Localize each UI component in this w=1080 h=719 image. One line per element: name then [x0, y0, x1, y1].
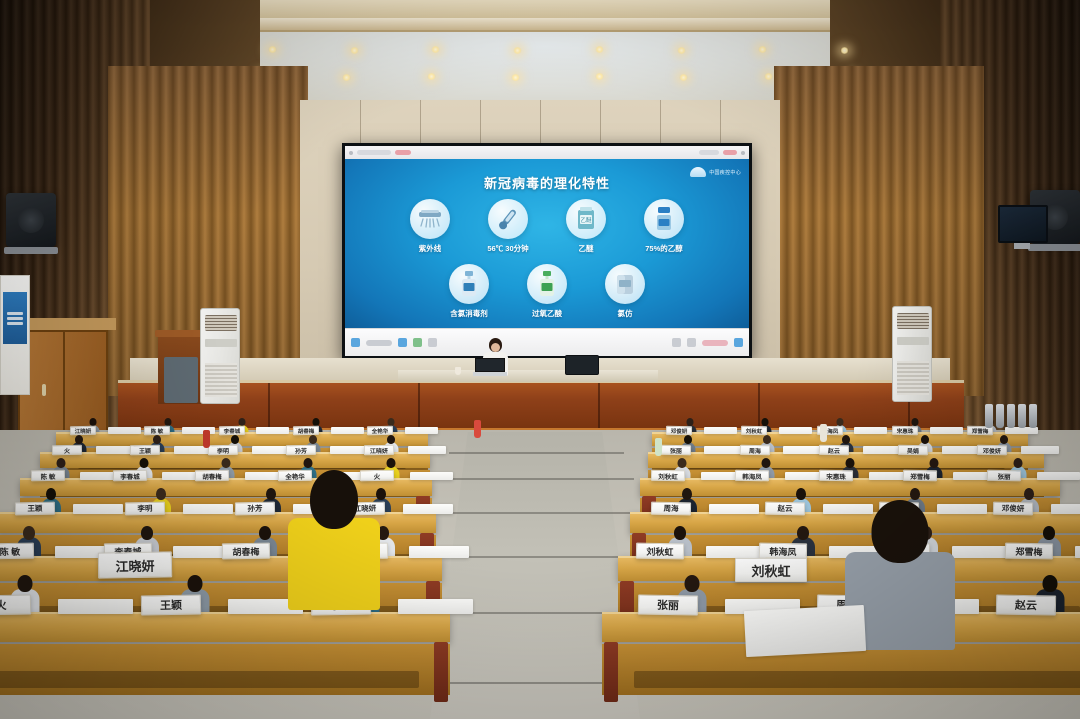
attendee-head [46, 488, 56, 500]
nameplate: 李春城 [219, 426, 245, 435]
desk-paper [952, 546, 1012, 558]
speaker-bracket-right [1028, 244, 1080, 251]
windows-taskbar[interactable] [345, 328, 749, 356]
desk-paper [1051, 504, 1080, 514]
peracetic-acid-icon [527, 264, 567, 304]
attendee-head [846, 458, 855, 468]
attendee-head [762, 458, 771, 468]
tray-icon-3[interactable] [734, 338, 743, 347]
attendee-head [684, 575, 699, 592]
attendee-head [387, 435, 395, 444]
wall-monitor-bracket [1014, 243, 1030, 249]
slide-icon-item: 56℃ 30分钟 [480, 199, 536, 254]
attendee-head [309, 435, 317, 444]
slide-icon-label: 75%的乙醇 [636, 243, 692, 254]
attendee-head [304, 458, 313, 468]
desk-paper [410, 472, 453, 480]
slide-icon-row-2: 含氯消毒剂过氧乙酸氯仿 [345, 264, 749, 319]
attendee-head [259, 526, 271, 540]
desk-shelf [0, 671, 419, 688]
laptop-keyboard [473, 372, 507, 376]
nameplate: 邓俊妍 [993, 502, 1033, 516]
desk-paper [854, 427, 887, 434]
nameplate: 邓俊妍 [666, 426, 692, 435]
attendee-head [18, 575, 33, 592]
attendee-head [910, 488, 920, 500]
desk-paper [783, 446, 821, 454]
nameplate: 刘秋虹 [636, 543, 684, 560]
desk-paper [96, 446, 134, 454]
desk-paper [704, 427, 737, 434]
attendee-head [837, 418, 844, 426]
attendee-head [156, 488, 166, 500]
attendee-head [1043, 575, 1058, 592]
desk-paper [330, 446, 368, 454]
nameplate: 陈 敏 [31, 470, 65, 482]
nameplate: 李春城 [113, 470, 147, 482]
attendee-head [921, 435, 929, 444]
desk-paper [331, 427, 364, 434]
podium-front-panel [164, 357, 198, 403]
nameplate: 李明 [208, 445, 238, 456]
nameplate: 胡春梅 [195, 470, 229, 482]
desk-paper [709, 504, 759, 514]
nameplate: 刘秋虹 [735, 558, 807, 582]
attendee-head [188, 575, 203, 592]
attendee-head [684, 435, 692, 444]
attendee-head [23, 526, 35, 540]
nameplate: 赵云 [819, 445, 849, 456]
attendee-head [75, 435, 83, 444]
tray-icon-2[interactable] [687, 338, 696, 347]
nameplate: 刘秋虹 [741, 426, 767, 435]
slide-icon-label: 过氧乙酸 [519, 308, 575, 319]
thermos-bottle [996, 404, 1004, 428]
desk-cup [455, 367, 461, 375]
nameplate: 王颖 [141, 594, 201, 615]
attendee-torso [288, 518, 380, 610]
bench-end-left [434, 642, 448, 702]
nameplate: 张丽 [987, 470, 1021, 482]
laptop-screen [475, 358, 505, 372]
nameplate: 陈 敏 [0, 543, 34, 560]
attendee-head [682, 488, 692, 500]
desk-paper [58, 599, 133, 614]
standing-banner [0, 275, 30, 395]
nameplate: 宋惠珠 [819, 470, 853, 482]
speaker-cone-icon [18, 207, 44, 233]
attendee-head [141, 526, 153, 540]
attendee-head [222, 458, 231, 468]
nameplate: 邓俊妍 [977, 445, 1007, 456]
thermos-bottle [1018, 404, 1026, 428]
aisle-step-edge [442, 478, 634, 480]
nameplate: 江晓妍 [98, 551, 172, 578]
svg-text:乙醚: 乙醚 [580, 216, 592, 224]
downlight [268, 46, 277, 53]
slide-icon-item: 75%的乙醇 [636, 199, 692, 254]
start-button-icon[interactable] [351, 338, 360, 347]
nameplate: 韩海凤 [759, 543, 807, 560]
nameplate: 王颖 [15, 502, 55, 516]
door-handle[interactable] [42, 384, 46, 396]
attendee-head [1024, 488, 1034, 500]
desk-paper [1005, 427, 1038, 434]
ac-vent-icon [897, 313, 929, 329]
desk-paper [108, 427, 141, 434]
thermometer-icon [488, 199, 528, 239]
slide-icon-label: 氯仿 [597, 308, 653, 319]
nameplate: 胡春梅 [222, 543, 270, 560]
attendee-head [678, 458, 687, 468]
tray-clock[interactable] [702, 340, 728, 346]
nameplate: 赵云 [765, 502, 805, 516]
attendee-head [872, 500, 929, 563]
slide-icon-item: 含氯消毒剂 [441, 264, 497, 319]
desk-paper [183, 504, 233, 514]
toolbar-pill-red [395, 150, 411, 155]
alcohol-bottle-icon [644, 199, 684, 239]
desk-paper [398, 599, 473, 614]
slide-canvas: 中国疾控中心 新冠病毒的理化特性 紫外线56℃ 30分钟乙醚乙醚75%的乙醇 含… [345, 159, 749, 334]
nameplate: 王颖 [130, 445, 160, 456]
nameplate: 赵云 [996, 594, 1056, 615]
brown-curtain-right [774, 66, 984, 396]
ac-display-panel [205, 339, 237, 347]
speaker-left [6, 193, 56, 247]
desk-paper [256, 427, 289, 434]
downlight [595, 46, 604, 53]
attendee-head [266, 488, 276, 500]
desk-paper [942, 446, 980, 454]
nameplate: 陈 敏 [144, 426, 170, 435]
attendee-head [313, 418, 320, 426]
slide-icon-item: 紫外线 [402, 199, 458, 254]
attendee-head [674, 526, 686, 540]
desk-paper [403, 504, 453, 514]
nameplate: 张丽 [661, 445, 691, 456]
nameplate: 郑雪梅 [903, 470, 937, 482]
nameplate: 江晓妍 [364, 445, 394, 456]
desk-paper [863, 446, 901, 454]
aisle-step-edge [449, 452, 624, 454]
slide-icon-row-1: 紫外线56℃ 30分钟乙醚乙醚75%的乙醇 [345, 199, 749, 254]
thermos-bottle [985, 404, 993, 428]
attendee-head [239, 418, 246, 426]
taskbar-app-icon-1[interactable] [398, 338, 407, 347]
nameplate: 周海 [740, 445, 770, 456]
toolbar-pill [357, 150, 391, 155]
attendee-head [761, 418, 768, 426]
lecture-hall-photo: 中国疾控中心 新冠病毒的理化特性 紫外线56℃ 30分钟乙醚乙醚75%的乙醇 含… [0, 0, 1080, 719]
projection-screen[interactable]: 中国疾控中心 新冠病毒的理化特性 紫外线56℃ 30分钟乙醚乙醚75%的乙醇 含… [342, 143, 752, 359]
water-bottle [655, 438, 662, 456]
screen-browser-toolbar [345, 146, 749, 159]
stage-panel-seam [418, 383, 420, 430]
attendee-head [310, 470, 358, 529]
attendee-head [1043, 526, 1055, 540]
slide-icon-label: 含氯消毒剂 [441, 308, 497, 319]
ac-grill [897, 361, 929, 395]
desk-paper [252, 446, 290, 454]
ac-display-panel [897, 337, 929, 345]
attendee-head [797, 526, 809, 540]
air-conditioner-left [200, 308, 240, 404]
nameplate: 韩海凤 [735, 470, 769, 482]
presenter-desk [398, 370, 658, 382]
attendee-head [231, 435, 239, 444]
taskbar-search-box[interactable] [366, 340, 392, 346]
stage-panel-seam [598, 383, 600, 430]
attendee-head [1000, 435, 1008, 444]
ether-bottle-icon: 乙醚 [566, 199, 606, 239]
attendee-head [842, 435, 850, 444]
attendee-head [57, 458, 66, 468]
nameplate: 孙芳 [286, 445, 316, 456]
desk-paper [1075, 546, 1080, 558]
desk-paper [706, 546, 766, 558]
ac-vent-icon [205, 315, 237, 331]
desk-paper [930, 427, 963, 434]
thermos-bottle [1029, 404, 1037, 428]
nameplate: 宋惠珠 [892, 426, 918, 435]
attendee-head [164, 418, 171, 426]
toolbar-close-icon [741, 151, 745, 155]
banner-text-line [7, 322, 23, 325]
taskbar-app-icon-3[interactable] [428, 338, 437, 347]
thermos-bottle [1007, 404, 1015, 428]
desk-paper [1021, 446, 1059, 454]
downlight [511, 74, 520, 81]
ac-grill [205, 363, 237, 397]
nameplate: 胡春梅 [293, 426, 319, 435]
presenter-laptop[interactable] [473, 358, 507, 376]
aisle-step-edge [432, 512, 646, 514]
attendee-head [153, 435, 161, 444]
downlight [840, 47, 849, 54]
door-split-line [63, 332, 65, 438]
slide-icon-item: 氯仿 [597, 264, 653, 319]
slide-icon-label: 56℃ 30分钟 [480, 243, 536, 254]
side-monitor[interactable] [565, 355, 599, 375]
nameplate: 吴娟 [898, 445, 928, 456]
chlorine-disinfectant-icon [449, 264, 489, 304]
desk-paper [1037, 472, 1080, 480]
speaker-bracket-left [4, 247, 58, 254]
attendee-head [686, 418, 693, 426]
attendee-head [930, 458, 939, 468]
downlight [427, 73, 436, 80]
slide-icon-label: 乙醚 [558, 243, 614, 254]
attendee-head [796, 488, 806, 500]
nameplate: 郑雪梅 [1005, 543, 1053, 560]
slide-title: 新冠病毒的理化特性 [345, 173, 749, 192]
slide-icon-label: 紫外线 [402, 243, 458, 254]
nameplate: 火 [52, 445, 82, 456]
open-notebook [744, 605, 866, 657]
wall-monitor-right [998, 205, 1048, 243]
toolbar-dot-icon [349, 151, 353, 155]
desk-paper [405, 427, 438, 434]
nameplate: 张丽 [637, 594, 697, 615]
desk-paper [409, 546, 469, 558]
bench-end-right [604, 642, 618, 702]
desk-paper [408, 446, 446, 454]
banner-blue-block [3, 292, 27, 344]
toolbar-pill-red-2 [723, 150, 737, 155]
nameplate: 全艳华 [367, 426, 393, 435]
nameplate: 江晓妍 [70, 426, 96, 435]
nameplate: 火 [0, 594, 31, 615]
chloroform-icon [605, 264, 645, 304]
desk-shelf [634, 671, 1080, 688]
downlight [677, 47, 686, 54]
water-bottle [203, 430, 210, 448]
attendee-head [90, 418, 97, 426]
air-conditioner-right [892, 306, 932, 402]
banner-text-line [7, 312, 23, 315]
stage-panel-seam [268, 383, 270, 430]
ceiling-rim [165, 18, 925, 32]
podium [158, 332, 204, 404]
banner-text-line [7, 317, 23, 320]
water-bottle [474, 420, 481, 438]
nameplate: 李明 [125, 502, 165, 516]
desk-paper [704, 446, 742, 454]
tray-icon-1[interactable] [672, 338, 681, 347]
desk-paper [779, 427, 812, 434]
nameplate: 周海 [651, 502, 691, 516]
attendee-head [763, 435, 771, 444]
attendee-head [912, 418, 919, 426]
attendee-head [386, 458, 395, 468]
downlight [764, 73, 773, 80]
uv-lamp-icon [410, 199, 450, 239]
slide-icon-item: 过氧乙酸 [519, 264, 575, 319]
attendee-head [1014, 458, 1023, 468]
toolbar-pill-right [699, 150, 719, 155]
attendee-yellow-shirt [288, 470, 380, 610]
downlight [350, 47, 359, 54]
taskbar-app-icon-2[interactable] [413, 338, 422, 347]
slide-icon-item: 乙醚乙醚 [558, 199, 614, 254]
presenter-face [491, 343, 500, 352]
water-bottle [820, 424, 827, 442]
desk-paper [73, 504, 123, 514]
desk-left-row5 [0, 612, 450, 642]
attendee-head [139, 458, 148, 468]
nameplate: 刘秋虹 [651, 470, 685, 482]
nameplate: 孙芳 [235, 502, 275, 516]
